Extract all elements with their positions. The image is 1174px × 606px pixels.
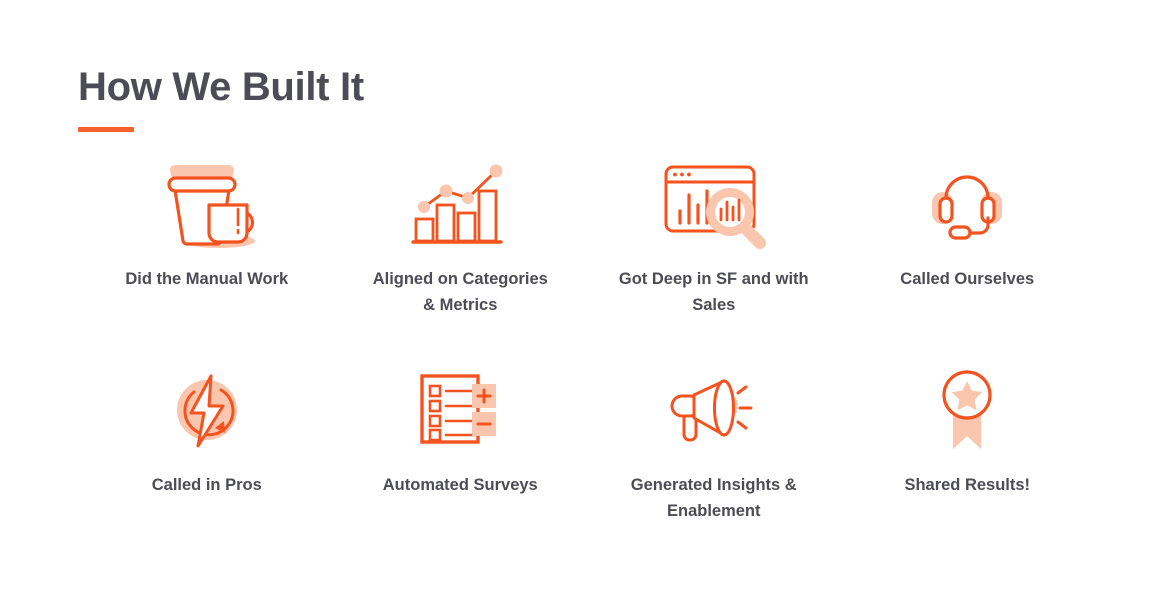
checklist-survey-icon — [414, 360, 506, 460]
step-label: Generated Insights & Enablement — [619, 472, 809, 524]
browser-analytics-search-icon — [660, 150, 768, 260]
step-item-got-deep-in-sf-and-with-sales: Got Deep in SF and with Sales — [587, 150, 841, 360]
step-item-automated-surveys: Automated Surveys — [334, 360, 588, 570]
heading-block: How We Built It — [78, 62, 364, 132]
step-item-called-ourselves: Called Ourselves — [841, 150, 1095, 360]
megaphone-icon — [664, 360, 764, 460]
page-title: How We Built It — [78, 62, 364, 112]
how-we-built-it-section: How We Built It — [0, 0, 1174, 606]
step-label: Aligned on Categories & Metrics — [365, 266, 555, 318]
step-item-generated-insights-enablement: Generated Insights & Enablement — [587, 360, 841, 570]
step-label: Did the Manual Work — [112, 266, 302, 292]
award-ribbon-star-icon — [929, 360, 1005, 460]
step-label: Shared Results! — [872, 472, 1062, 498]
coffee-cups-icon — [153, 150, 261, 260]
title-underline-rule — [78, 127, 134, 132]
bar-chart-trend-icon — [408, 150, 512, 260]
step-label: Called Ourselves — [872, 266, 1062, 292]
step-item-did-the-manual-work: Did the Manual Work — [80, 150, 334, 360]
step-label: Called in Pros — [112, 472, 302, 498]
step-item-aligned-on-categories-metrics: Aligned on Categories & Metrics — [334, 150, 588, 360]
headset-icon — [920, 150, 1014, 260]
steps-grid: Did the Manual Work — [80, 150, 1094, 570]
step-label: Got Deep in SF and with Sales — [619, 266, 809, 318]
step-item-called-in-pros: Called in Pros — [80, 360, 334, 570]
step-label: Automated Surveys — [365, 472, 555, 498]
lightning-bolt-refresh-icon — [163, 360, 251, 460]
step-item-shared-results: Shared Results! — [841, 360, 1095, 570]
